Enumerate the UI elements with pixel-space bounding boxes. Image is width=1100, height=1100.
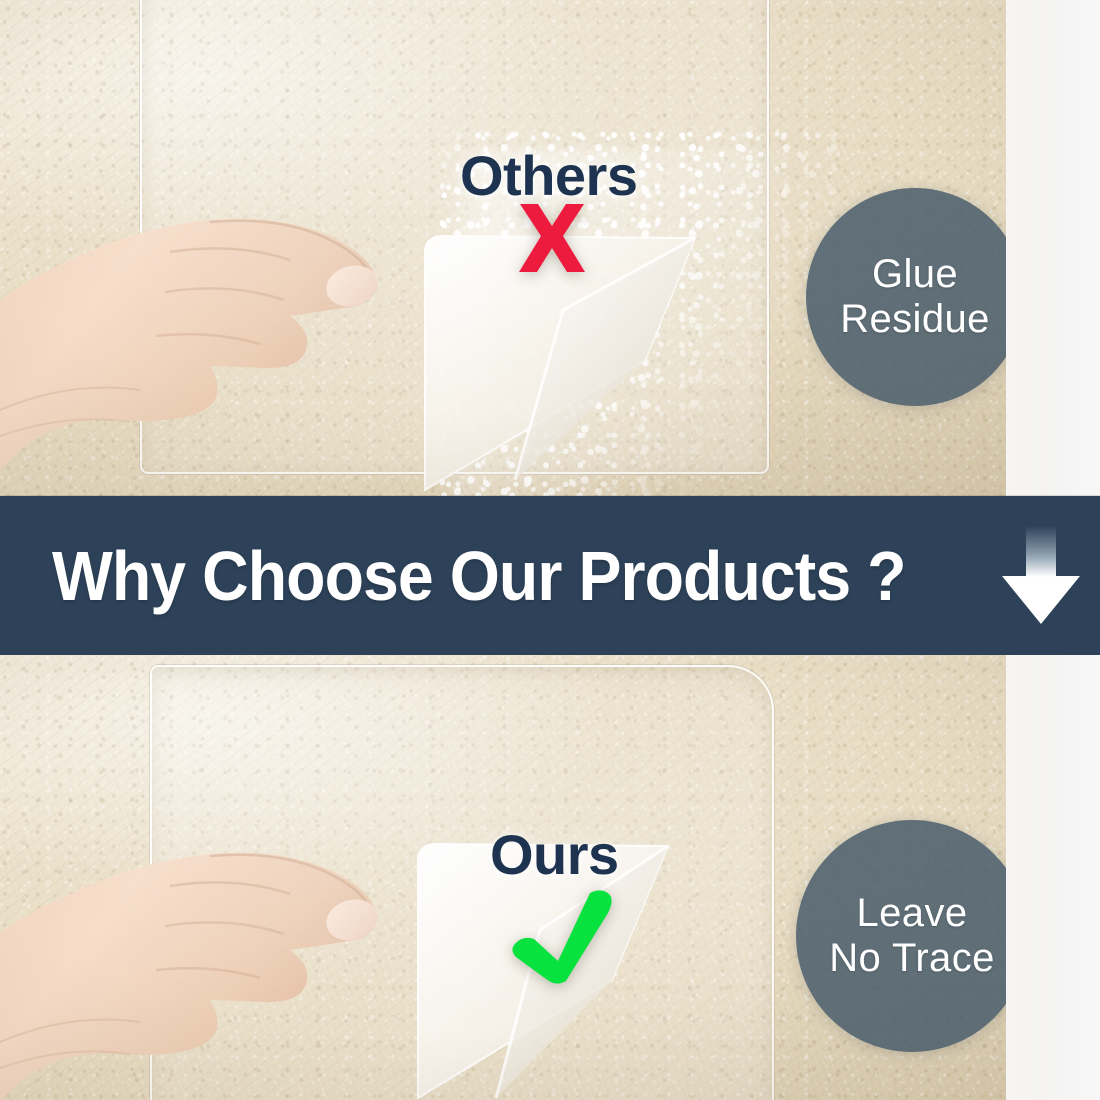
ours-panel: Ours Leave No Trace: [0, 655, 1100, 1100]
red-cross-icon: [512, 200, 592, 276]
ours-photo: Ours Leave No Trace: [0, 655, 1006, 1100]
photo-right-margin-top: [1006, 0, 1100, 496]
banner-title: Why Choose Our Products ?: [52, 536, 906, 616]
why-choose-banner: Why Choose Our Products ?: [0, 496, 1100, 655]
badge-line-2: No Trace: [829, 936, 995, 981]
comparison-label-ours: Ours: [490, 822, 619, 887]
others-panel: Others Glue Residue: [0, 0, 1100, 496]
down-arrow-icon: [998, 524, 1084, 628]
badge-line-1: Glue: [840, 252, 990, 297]
others-photo: Others Glue Residue: [0, 0, 1006, 496]
badge-line-2: Residue: [840, 297, 990, 342]
comparison-label-others: Others: [460, 143, 638, 208]
photo-right-margin-bottom: [1006, 655, 1100, 1100]
infographic-root: Others Glue Residue Why Choose Our Produ…: [0, 0, 1100, 1100]
green-check-icon: [508, 887, 618, 987]
badge-line-1: Leave: [829, 891, 995, 936]
